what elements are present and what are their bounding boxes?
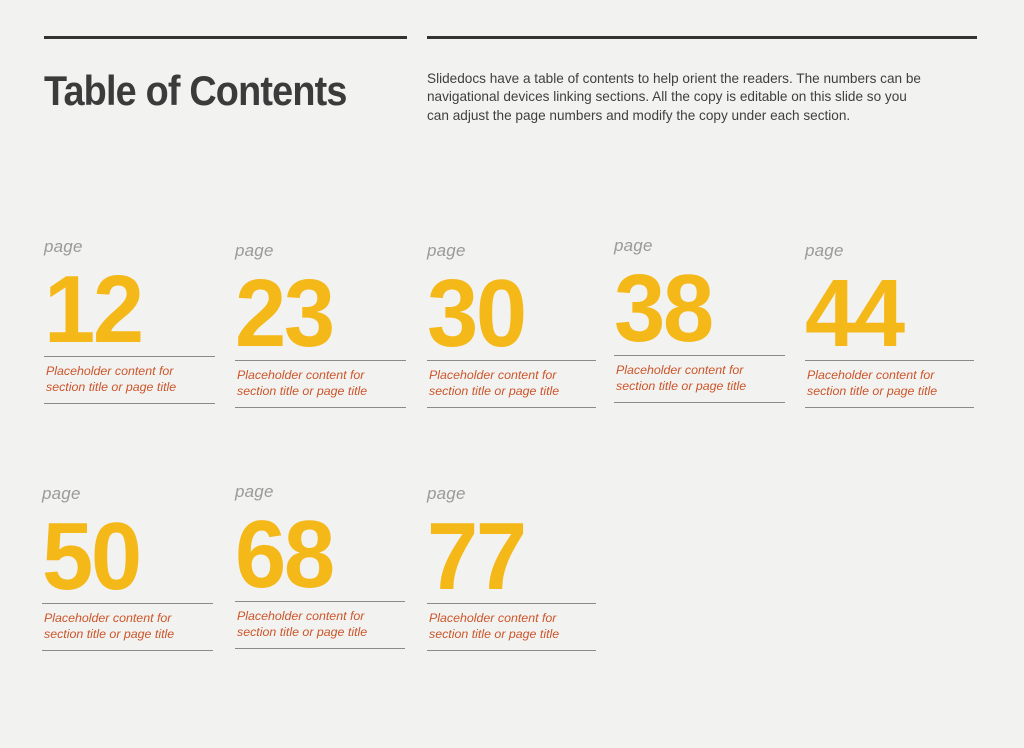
page-number[interactable]: 68: [235, 509, 398, 601]
entry-description[interactable]: Placeholder content for section title or…: [614, 356, 785, 402]
page-label: page: [614, 237, 785, 254]
divider-bottom: [427, 650, 596, 651]
divider-bottom: [44, 403, 215, 404]
intro-paragraph: Slidedocs have a table of contents to he…: [427, 70, 927, 125]
page-label: page: [42, 485, 213, 502]
slide-canvas: Table of Contents Slidedocs have a table…: [0, 0, 1024, 748]
page-number[interactable]: 77: [427, 511, 589, 603]
divider-bottom: [235, 407, 406, 408]
header-rule-left: [44, 36, 407, 39]
toc-entry-card[interactable]: page 38 Placeholder content for section …: [614, 237, 785, 403]
divider-bottom: [614, 402, 785, 403]
page-number[interactable]: 30: [427, 268, 589, 360]
toc-entry-card[interactable]: page 77 Placeholder content for section …: [427, 485, 596, 651]
page-label: page: [427, 242, 596, 259]
toc-entry-card[interactable]: page 44 Placeholder content for section …: [805, 242, 974, 408]
toc-entry-card[interactable]: page 68 Placeholder content for section …: [235, 483, 405, 649]
divider-bottom: [805, 407, 974, 408]
page-label: page: [235, 483, 405, 500]
toc-entry-card[interactable]: page 23 Placeholder content for section …: [235, 242, 406, 408]
toc-entry-card[interactable]: page 30 Placeholder content for section …: [427, 242, 596, 408]
page-number[interactable]: 23: [235, 268, 399, 360]
entry-description[interactable]: Placeholder content for section title or…: [235, 361, 406, 407]
toc-entry-card[interactable]: page 12 Placeholder content for section …: [44, 238, 215, 404]
page-number[interactable]: 50: [42, 511, 206, 603]
header-rule-right: [427, 36, 977, 39]
entry-description[interactable]: Placeholder content for section title or…: [235, 602, 405, 648]
page-number[interactable]: 38: [614, 263, 778, 355]
toc-entry-card[interactable]: page 50 Placeholder content for section …: [42, 485, 213, 651]
page-label: page: [44, 238, 215, 255]
entry-description[interactable]: Placeholder content for section title or…: [427, 604, 596, 650]
page-number[interactable]: 44: [805, 268, 967, 360]
divider-bottom: [235, 648, 405, 649]
divider-bottom: [42, 650, 213, 651]
entry-description[interactable]: Placeholder content for section title or…: [805, 361, 974, 407]
page-number[interactable]: 12: [44, 264, 208, 356]
divider-bottom: [427, 407, 596, 408]
page-label: page: [805, 242, 974, 259]
entry-description[interactable]: Placeholder content for section title or…: [44, 357, 215, 403]
page-title: Table of Contents: [44, 68, 377, 113]
page-label: page: [427, 485, 596, 502]
entry-description[interactable]: Placeholder content for section title or…: [42, 604, 213, 650]
entry-description[interactable]: Placeholder content for section title or…: [427, 361, 596, 407]
page-label: page: [235, 242, 406, 259]
